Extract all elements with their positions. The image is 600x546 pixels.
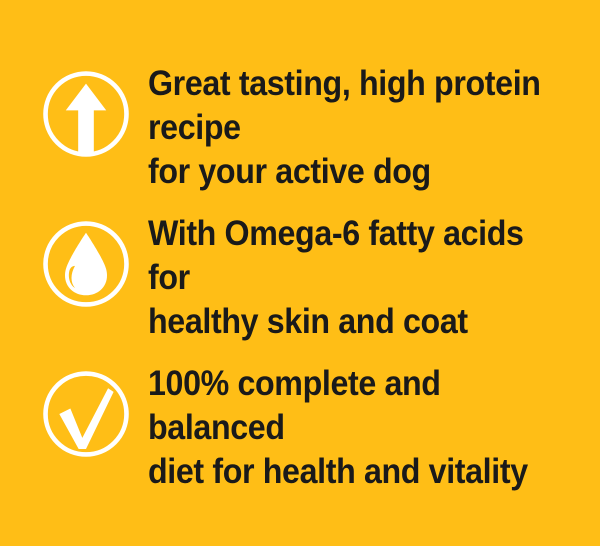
feature-text-container: With Omega-6 fatty acids for healthy ski…: [148, 212, 600, 344]
checkmark-circle-icon: [40, 368, 132, 460]
feature-highlights-panel: Great tasting, high protein recipe for y…: [0, 0, 600, 546]
feature-row: 100% complete and balanced diet for heal…: [0, 362, 600, 494]
feature-text-container: 100% complete and balanced diet for heal…: [148, 362, 600, 494]
feature-text: 100% complete and balanced diet for heal…: [148, 362, 547, 494]
water-droplet-circle-icon: [40, 218, 132, 310]
feature-row: Great tasting, high protein recipe for y…: [0, 62, 600, 194]
feature-row: With Omega-6 fatty acids for healthy ski…: [0, 212, 600, 344]
feature-icon-container: [0, 62, 148, 160]
feature-icon-container: [0, 362, 148, 460]
feature-icon-container: [0, 212, 148, 310]
up-arrow-circle-icon: [40, 68, 132, 160]
feature-text: With Omega-6 fatty acids for healthy ski…: [148, 212, 547, 344]
feature-text: Great tasting, high protein recipe for y…: [148, 62, 547, 194]
feature-text-container: Great tasting, high protein recipe for y…: [148, 62, 600, 194]
